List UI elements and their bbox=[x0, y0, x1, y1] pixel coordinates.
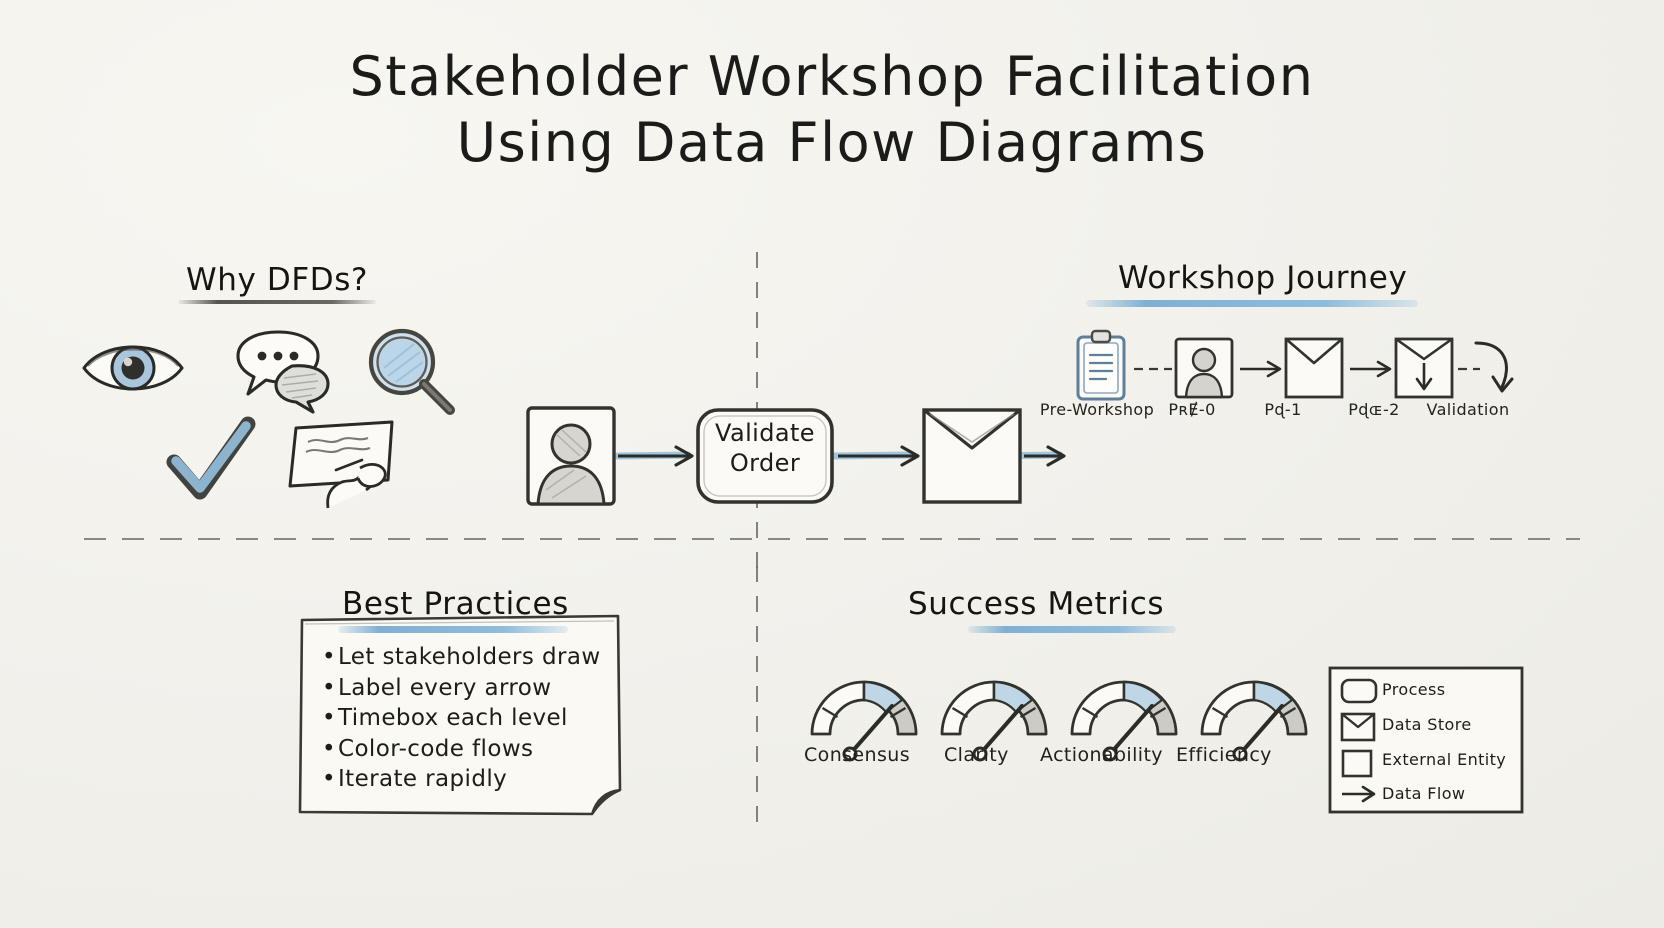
speech-bubbles-icon bbox=[218, 322, 338, 412]
eye-icon bbox=[78, 330, 188, 402]
metric-label-clarity: Clarity bbox=[944, 744, 1009, 766]
journey-label-0: Pre-Workshop bbox=[1038, 400, 1156, 419]
journey-label-4: Validation bbox=[1420, 400, 1516, 419]
success-metrics-underline bbox=[968, 626, 1176, 633]
best-practice-2: Timebox each level bbox=[338, 705, 568, 731]
checkmark-icon bbox=[164, 414, 260, 506]
journey-label-1: PʀɆ-0 bbox=[1152, 400, 1232, 419]
hand-drawing-icon bbox=[276, 408, 406, 510]
external-entity-icon bbox=[1176, 339, 1232, 397]
workshop-journey-heading: Workshop Journey bbox=[1118, 260, 1407, 296]
metric-label-efficiency: Efficiency bbox=[1176, 744, 1272, 766]
metric-label-consensus: Consensus bbox=[804, 744, 910, 766]
best-practice-3: Color-code flows bbox=[338, 736, 533, 762]
why-dfds-underline bbox=[178, 300, 376, 304]
journey-label-3: Pɖɶ-2 bbox=[1334, 400, 1414, 419]
validate-order-process-label: Validate Order bbox=[698, 418, 832, 478]
journey-arrow-1 bbox=[1240, 362, 1280, 376]
process-label-line-2: Order bbox=[698, 448, 832, 478]
data-store-icon bbox=[1286, 339, 1342, 397]
best-practices-list: •Let stakeholders draw •Label every arro… bbox=[322, 642, 622, 795]
data-flow-arrow-2 bbox=[838, 447, 918, 465]
list-item: •Label every arrow bbox=[322, 673, 622, 704]
legend-process-icon bbox=[1342, 680, 1376, 702]
best-practice-0: Let stakeholders draw bbox=[338, 644, 601, 670]
why-dfds-heading: Why DFDs? bbox=[186, 262, 368, 298]
journey-arrow-2 bbox=[1350, 362, 1390, 376]
title-line-1: Stakeholder Workshop Facilitation bbox=[350, 45, 1315, 108]
legend-label-external-entity: External Entity bbox=[1382, 750, 1506, 769]
workshop-journey-underline bbox=[1086, 300, 1418, 307]
best-practice-1: Label every arrow bbox=[338, 675, 551, 701]
list-item: •Iterate rapidly bbox=[322, 764, 622, 795]
best-practices-underline bbox=[338, 626, 568, 633]
best-practice-4: Iterate rapidly bbox=[338, 766, 507, 792]
legend-external-entity-icon bbox=[1343, 751, 1371, 776]
horizontal-divider bbox=[84, 538, 1580, 540]
vertical-divider-bottom bbox=[756, 566, 758, 822]
magnifier-icon bbox=[360, 322, 460, 418]
external-entity-node bbox=[528, 408, 614, 504]
best-practices-heading: Best Practices bbox=[342, 586, 569, 622]
data-store-node bbox=[924, 410, 1020, 502]
journey-label-2: Pɖ-1 bbox=[1244, 400, 1322, 419]
metric-label-actionability: Actionability bbox=[1040, 744, 1163, 766]
clipboard-icon bbox=[1078, 331, 1124, 399]
title-line-2: Using Data Flow Diagrams bbox=[0, 110, 1664, 176]
data-store-arrow-icon bbox=[1396, 339, 1452, 397]
list-item: •Color-code flows bbox=[322, 734, 622, 765]
legend-data-store-icon bbox=[1342, 714, 1374, 740]
legend-label-data-store: Data Store bbox=[1382, 715, 1472, 734]
page-title: Stakeholder Workshop Facilitation Using … bbox=[0, 44, 1664, 176]
data-flow-arrow-3 bbox=[1024, 447, 1064, 465]
success-metrics-heading: Success Metrics bbox=[908, 586, 1164, 622]
list-item: •Let stakeholders draw bbox=[322, 642, 622, 673]
legend-label-data-flow: Data Flow bbox=[1382, 784, 1465, 803]
list-item: •Timebox each level bbox=[322, 703, 622, 734]
legend-label-process: Process bbox=[1382, 680, 1446, 699]
process-label-line-1: Validate bbox=[698, 418, 832, 448]
data-flow-arrow-1 bbox=[618, 447, 692, 465]
curved-arrow-icon bbox=[1476, 343, 1512, 391]
